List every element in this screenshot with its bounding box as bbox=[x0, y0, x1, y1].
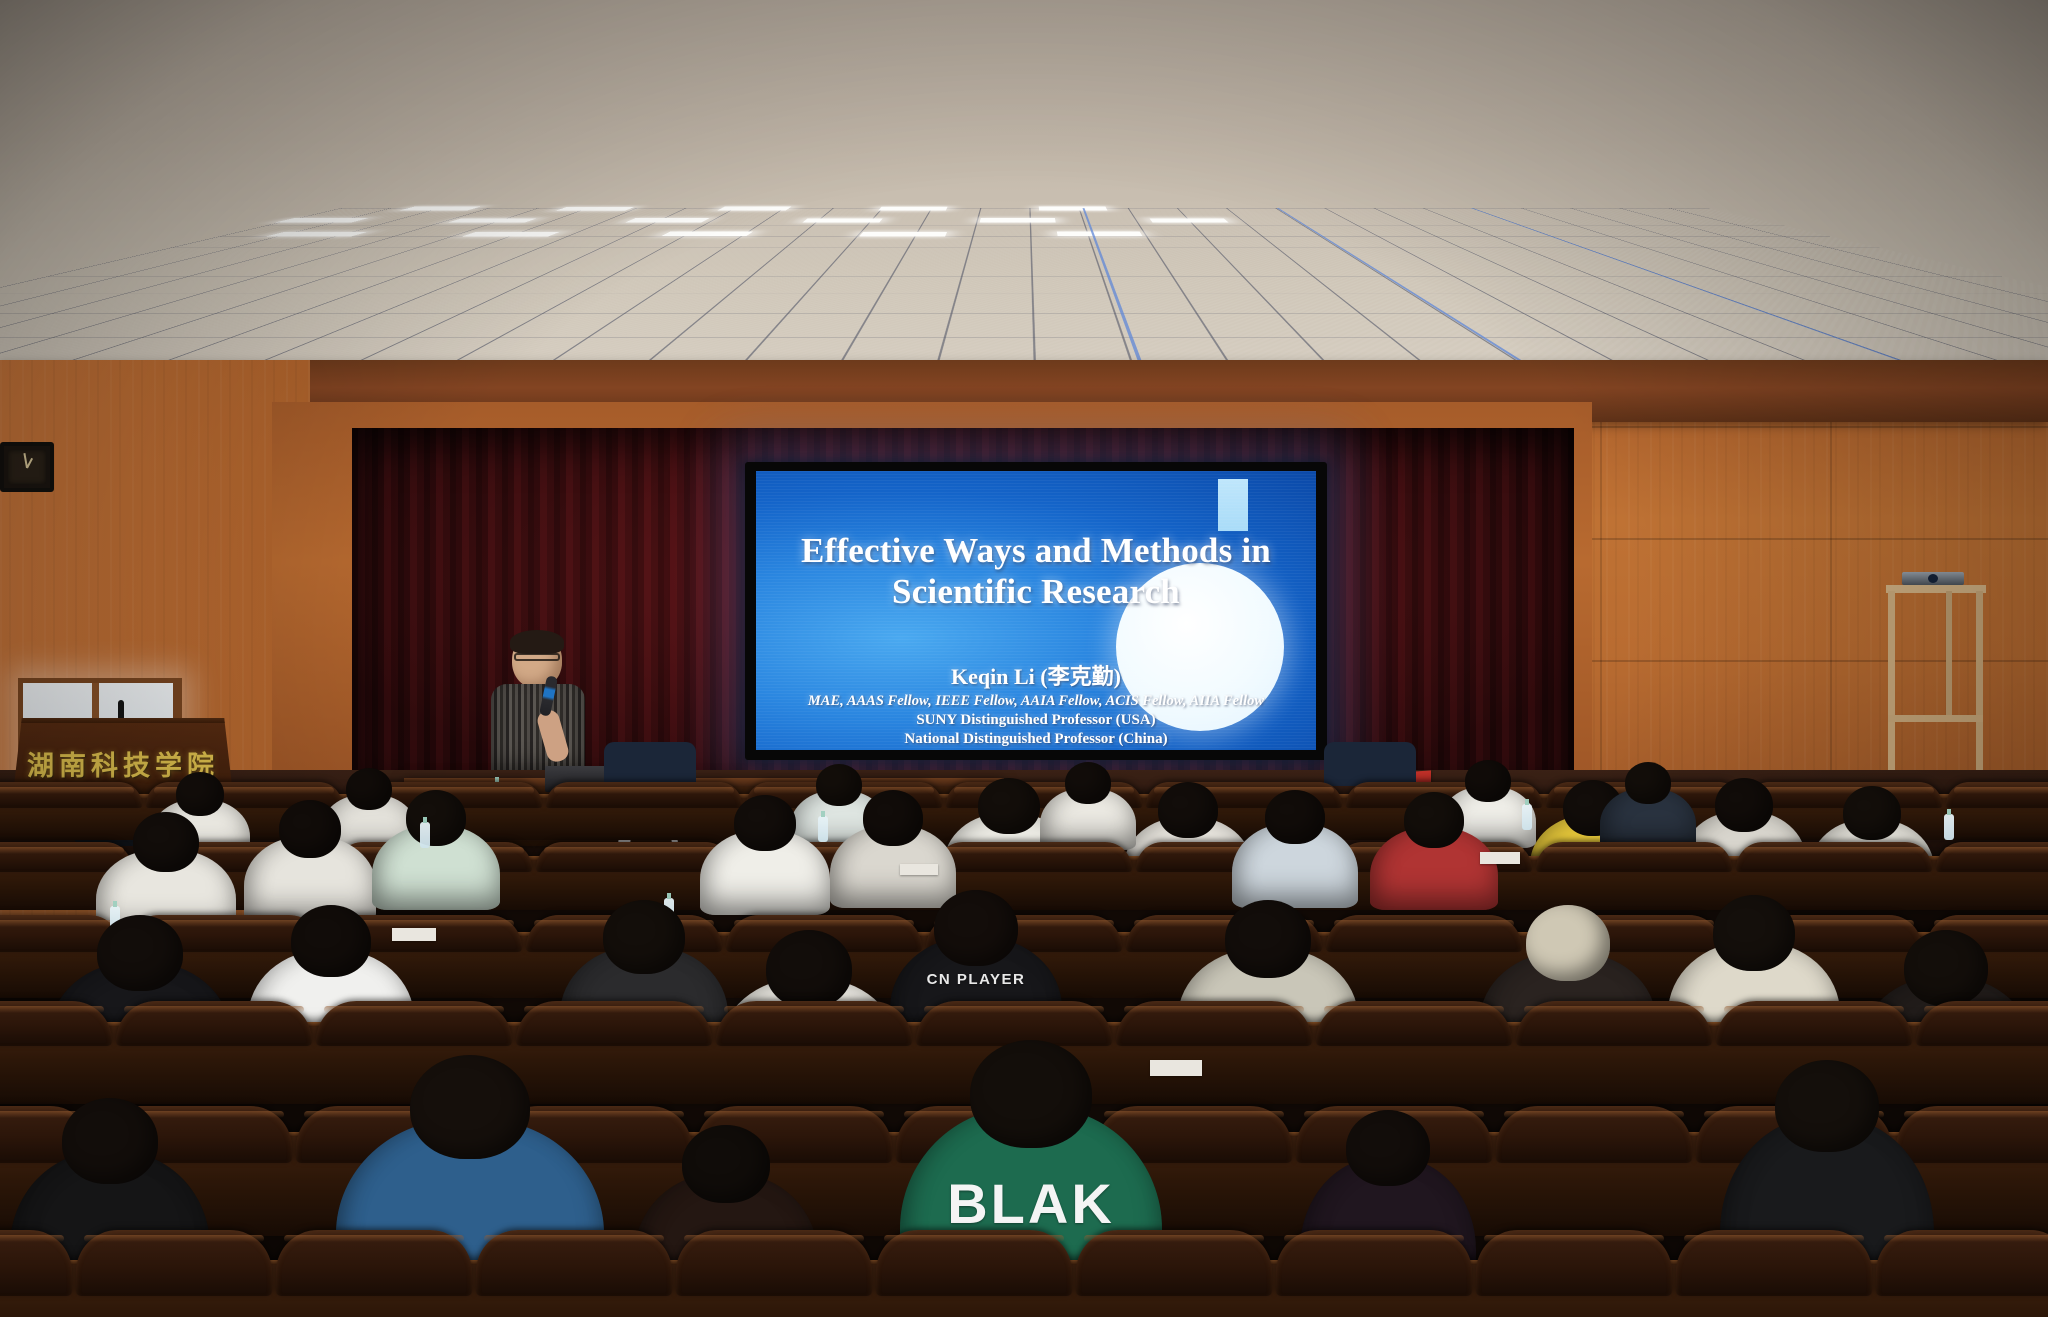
bench-seat-back bbox=[1496, 1106, 1692, 1163]
audience-member bbox=[372, 790, 500, 910]
audience-member-head bbox=[1843, 786, 1901, 840]
audience-member bbox=[244, 800, 376, 922]
audience-member-head bbox=[1346, 1110, 1430, 1186]
ceiling-light-panel bbox=[626, 218, 710, 222]
ceiling-light-panel bbox=[462, 232, 559, 237]
audience-member-head bbox=[176, 772, 224, 816]
audience-member-head bbox=[410, 1055, 530, 1159]
side-table-leg bbox=[1976, 591, 1983, 777]
ceiling-light-panel bbox=[878, 207, 948, 211]
bench-seat-back bbox=[1536, 842, 1732, 872]
audience-member-head bbox=[279, 800, 341, 858]
ceiling-light-panel bbox=[1149, 218, 1228, 222]
water-bottle bbox=[420, 822, 430, 848]
ceiling-light-panel bbox=[276, 218, 368, 222]
water-bottle bbox=[1522, 804, 1532, 830]
wall-clock bbox=[0, 442, 54, 492]
audience-member-head bbox=[1158, 782, 1218, 838]
audience-member-head bbox=[97, 915, 183, 991]
bench-seat-back bbox=[76, 1230, 272, 1296]
ceiling-light-panel bbox=[980, 218, 1056, 222]
bench-seat-back bbox=[716, 1001, 912, 1046]
audience-member-head bbox=[1713, 895, 1795, 971]
audience-member-head bbox=[1526, 905, 1610, 981]
bench-seat-back bbox=[1476, 1230, 1672, 1296]
audience-member-head bbox=[1715, 778, 1773, 832]
audience-member-head bbox=[766, 930, 852, 1008]
lecture-hall-photo: Effective Ways and Methods in Scientific… bbox=[0, 0, 2048, 1317]
audience-member-head bbox=[934, 890, 1018, 966]
ceiling-light-panel bbox=[447, 218, 536, 222]
bench-seat-back bbox=[876, 1230, 1072, 1296]
side-table-leg bbox=[1946, 591, 1952, 721]
slide-scanline-overlay bbox=[756, 471, 1316, 750]
audience-member bbox=[700, 795, 830, 915]
audience-member-head bbox=[978, 778, 1040, 834]
bench-seat-back bbox=[676, 1230, 872, 1296]
bench-seat-back bbox=[476, 1230, 672, 1296]
bench-seat-back bbox=[1936, 842, 2048, 872]
audience-member bbox=[1370, 792, 1498, 910]
presenter-hair bbox=[510, 630, 564, 654]
audience-member-head bbox=[1065, 762, 1111, 804]
bench-seat-back bbox=[0, 1230, 72, 1296]
audience-member bbox=[1600, 762, 1696, 850]
audience-member-head bbox=[406, 790, 466, 846]
camera-icon bbox=[1902, 572, 1964, 585]
bench-seat-back bbox=[0, 782, 142, 807]
bench-seat-back bbox=[1316, 1001, 1512, 1046]
side-table-rail bbox=[1888, 715, 1983, 722]
ceiling-light-panel bbox=[802, 218, 882, 222]
water-bottle bbox=[818, 816, 828, 842]
side-table-top bbox=[1886, 585, 1986, 593]
bench-seat-back bbox=[1736, 842, 1932, 872]
bench-seat-back bbox=[936, 842, 1132, 872]
side-table-leg bbox=[1888, 591, 1895, 777]
audience-member-head bbox=[1625, 762, 1671, 804]
audience-member-head bbox=[734, 795, 796, 851]
audience-member-head bbox=[970, 1040, 1092, 1148]
ceiling-light-panel bbox=[859, 232, 947, 236]
paper-sheet bbox=[392, 928, 436, 941]
audience-member-head bbox=[1265, 790, 1325, 844]
bench-seat-back bbox=[1946, 782, 2048, 807]
shirt-print-text: CN PLAYER bbox=[890, 971, 1062, 988]
ceiling-light-panel bbox=[717, 206, 791, 210]
presentation-slide: Effective Ways and Methods in Scientific… bbox=[756, 471, 1316, 750]
audience-member-head bbox=[1225, 900, 1311, 978]
audience-member-head bbox=[1404, 792, 1464, 848]
ceiling-light-panel bbox=[400, 206, 481, 210]
audience-member bbox=[1232, 790, 1358, 908]
audience-member-head bbox=[682, 1125, 770, 1203]
clock-minute-hand bbox=[23, 453, 28, 468]
shirt-print-text: BLAK bbox=[900, 1171, 1162, 1236]
audience-member-head bbox=[603, 900, 685, 974]
ceiling-light-panel bbox=[267, 232, 368, 236]
bench-seat-back bbox=[0, 1001, 112, 1046]
projection-screen[interactable]: Effective Ways and Methods in Scientific… bbox=[745, 462, 1327, 760]
bench-seat-back bbox=[116, 1001, 312, 1046]
bench-seat-back bbox=[1676, 1230, 1872, 1296]
bench-seat-back bbox=[516, 1001, 712, 1046]
audience-member-head bbox=[62, 1098, 158, 1184]
bench-seat-back bbox=[1916, 1001, 2048, 1046]
bench-seat-back bbox=[276, 1230, 472, 1296]
bench-seat-back bbox=[1076, 1230, 1272, 1296]
ceiling-light-panel bbox=[556, 207, 635, 211]
audience-member-head bbox=[863, 790, 923, 846]
audience-area: BLAKCN PLAYER bbox=[0, 760, 2048, 1317]
audience-member-head bbox=[1904, 930, 1988, 1006]
audience-member-head bbox=[133, 812, 199, 872]
bench-seat-back bbox=[1716, 1001, 1912, 1046]
ceiling-light-panel bbox=[661, 232, 753, 236]
ceiling bbox=[0, 0, 2048, 392]
paper-sheet bbox=[900, 864, 938, 875]
bench-seat-back bbox=[1516, 1001, 1712, 1046]
ceiling-light-panel bbox=[1057, 232, 1143, 236]
water-bottle bbox=[1944, 814, 1954, 840]
clock-face bbox=[8, 450, 46, 484]
glasses-icon bbox=[514, 653, 560, 661]
audience-member-head bbox=[291, 905, 371, 977]
audience-member-head bbox=[1775, 1060, 1879, 1152]
ceiling-light-panel bbox=[1039, 206, 1108, 210]
bench-seat-back bbox=[1276, 1230, 1472, 1296]
audience-member bbox=[1040, 762, 1136, 850]
bench-seat-back bbox=[1876, 1230, 2048, 1296]
bench-seat-back bbox=[316, 1001, 512, 1046]
paper-sheet bbox=[1480, 852, 1520, 864]
side-table bbox=[1886, 585, 1986, 775]
